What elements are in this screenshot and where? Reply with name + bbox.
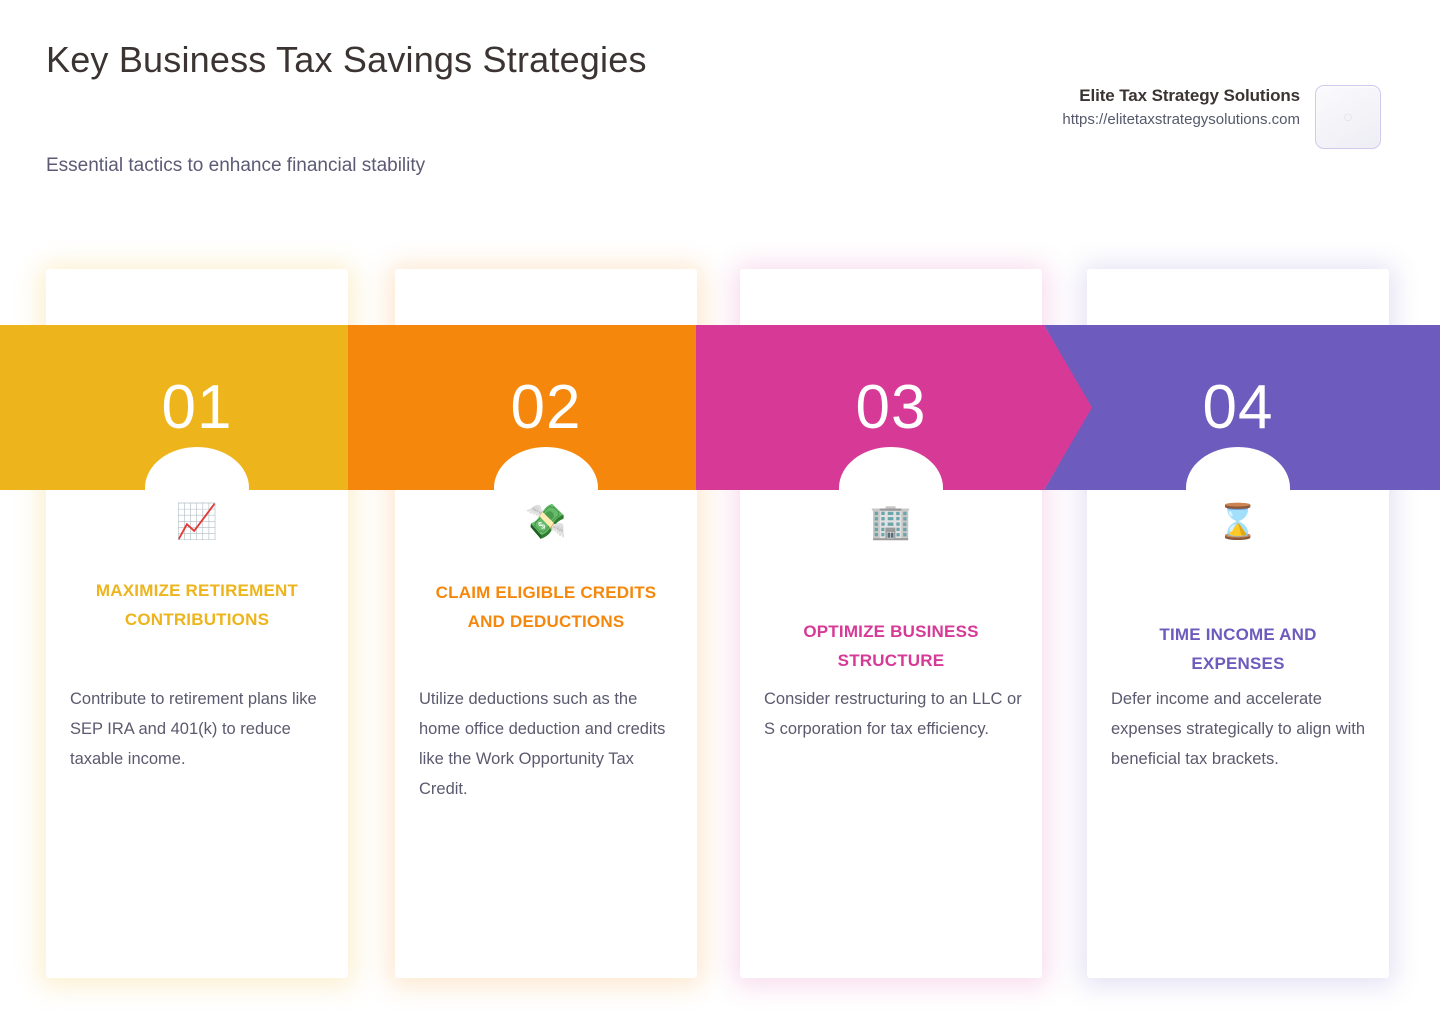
money-with-wings-icon: 💸 [395,505,697,539]
arrow-banner: 01 02 03 04 [0,325,1440,490]
banner-segment-4: 04 [1044,325,1440,490]
step-title-2: CLAIM ELIGIBLE CREDITS AND DEDUCTIONS [419,578,673,636]
banner-segment-1: 01 [0,325,397,490]
hourglass-icon: ⌛ [1087,505,1389,539]
step-body-4: Defer income and accelerate expenses str… [1111,684,1371,774]
banner-segment-3: 03 [696,325,1093,490]
step-body-2: Utilize deductions such as the home offi… [419,684,679,804]
step-title-3: OPTIMIZE BUSINESS STRUCTURE [764,617,1018,675]
step-title-1: MAXIMIZE RETIREMENT CONTRIBUTIONS [70,576,324,634]
step-body-3: Consider restructuring to an LLC or S co… [764,684,1024,744]
chart-increasing-icon: 📈 [46,505,348,539]
step-body-1: Contribute to retirement plans like SEP … [70,684,330,774]
banner-segment-2: 02 [348,325,745,490]
office-building-icon: 🏢 [740,505,1042,539]
infographic-page: Key Business Tax Savings Strategies Esse… [0,0,1440,1024]
step-title-4: TIME INCOME AND EXPENSES [1111,620,1365,678]
